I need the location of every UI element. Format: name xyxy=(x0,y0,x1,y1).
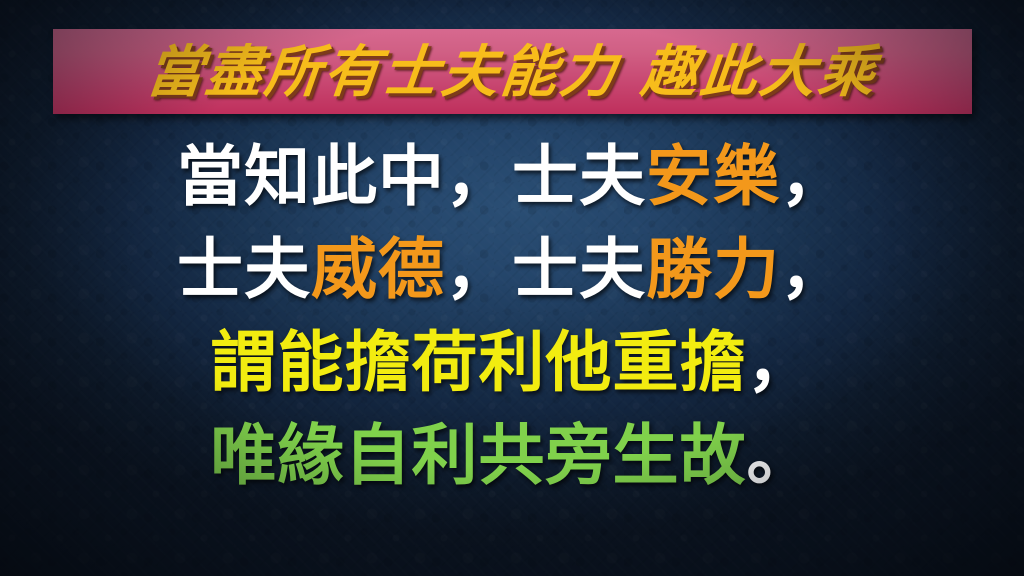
verse-segment: ， xyxy=(780,231,847,308)
verse-segment: ， xyxy=(780,138,847,215)
title-banner: 當盡所有士夫能力 趣此大乘 xyxy=(53,29,972,114)
verse-segment: 士夫 xyxy=(512,231,646,308)
verse-segment: 當知此中 xyxy=(177,138,445,215)
verse-segment: ， xyxy=(747,324,814,401)
verse-segment: ， xyxy=(445,138,512,215)
verse-segment: ， xyxy=(445,231,512,308)
verse-segment: 士夫 xyxy=(512,138,646,215)
verse-line-1: 當知此中，士夫安樂， xyxy=(0,130,1024,223)
verse-segment: 士夫 xyxy=(177,231,311,308)
verse-text-block: 當知此中，士夫安樂， 士夫威德，士夫勝力， 謂能擔荷利他重擔， 唯緣自利共旁生故… xyxy=(0,130,1024,502)
verse-line-4: 唯緣自利共旁生故。 xyxy=(0,409,1024,502)
presentation-slide: 當盡所有士夫能力 趣此大乘 當知此中，士夫安樂， 士夫威德，士夫勝力， 謂能擔荷… xyxy=(0,0,1024,576)
verse-segment: 勝力 xyxy=(646,231,780,308)
verse-line-2: 士夫威德，士夫勝力， xyxy=(0,223,1024,316)
slide-title: 當盡所有士夫能力 趣此大乘 xyxy=(144,44,880,100)
verse-line-3: 謂能擔荷利他重擔， xyxy=(0,316,1024,409)
verse-segment: 威德 xyxy=(311,231,445,308)
verse-segment: 。 xyxy=(747,417,814,494)
verse-segment: 安樂 xyxy=(646,138,780,215)
verse-segment: 唯緣自利共旁生故 xyxy=(211,417,747,494)
verse-segment: 謂能擔荷利他重擔 xyxy=(211,324,747,401)
